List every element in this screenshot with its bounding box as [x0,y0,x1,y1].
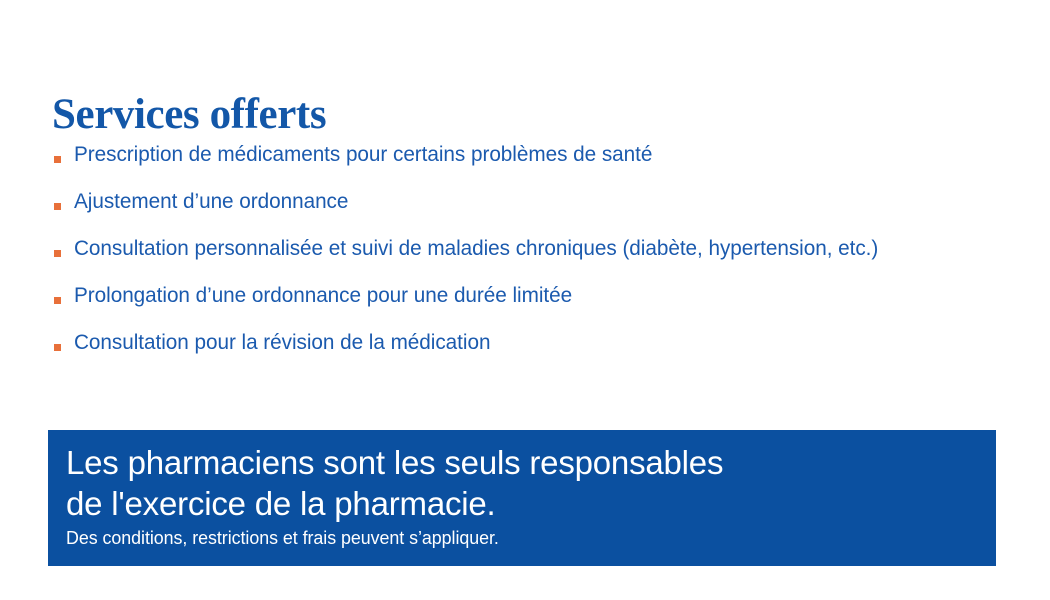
list-item-label: Consultation personnalisée et suivi de m… [74,234,878,262]
list-item: Prescription de médicaments pour certain… [52,140,1032,187]
square-bullet-icon [54,203,61,210]
callout-subtext: Des conditions, restrictions et frais pe… [66,526,963,550]
list-item: Consultation personnalisée et suivi de m… [52,234,1032,281]
list-item-label: Consultation pour la révision de la médi… [74,328,490,356]
page-title: Services offerts [52,91,326,139]
list-item-label: Prescription de médicaments pour certain… [74,140,652,168]
list-item: Ajustement d’une ordonnance [52,187,1032,234]
list-item: Consultation pour la révision de la médi… [52,328,1032,375]
square-bullet-icon [54,156,61,163]
callout-heading-line-2: de l'exercice de la pharmacie. [66,483,996,524]
callout-heading-line-1: Les pharmaciens sont les seuls responsab… [66,442,996,483]
list-item-label: Ajustement d’une ordonnance [74,187,348,215]
services-bullet-list: Prescription de médicaments pour certain… [52,140,1032,375]
square-bullet-icon [54,250,61,257]
square-bullet-icon [54,344,61,351]
callout-heading: Les pharmaciens sont les seuls responsab… [66,442,996,524]
slide-canvas: Services offerts Prescription de médicam… [0,0,1050,600]
callout-banner: Les pharmaciens sont les seuls responsab… [48,430,996,566]
list-item: Prolongation d’une ordonnance pour une d… [52,281,1032,328]
list-item-label: Prolongation d’une ordonnance pour une d… [74,281,572,309]
square-bullet-icon [54,297,61,304]
